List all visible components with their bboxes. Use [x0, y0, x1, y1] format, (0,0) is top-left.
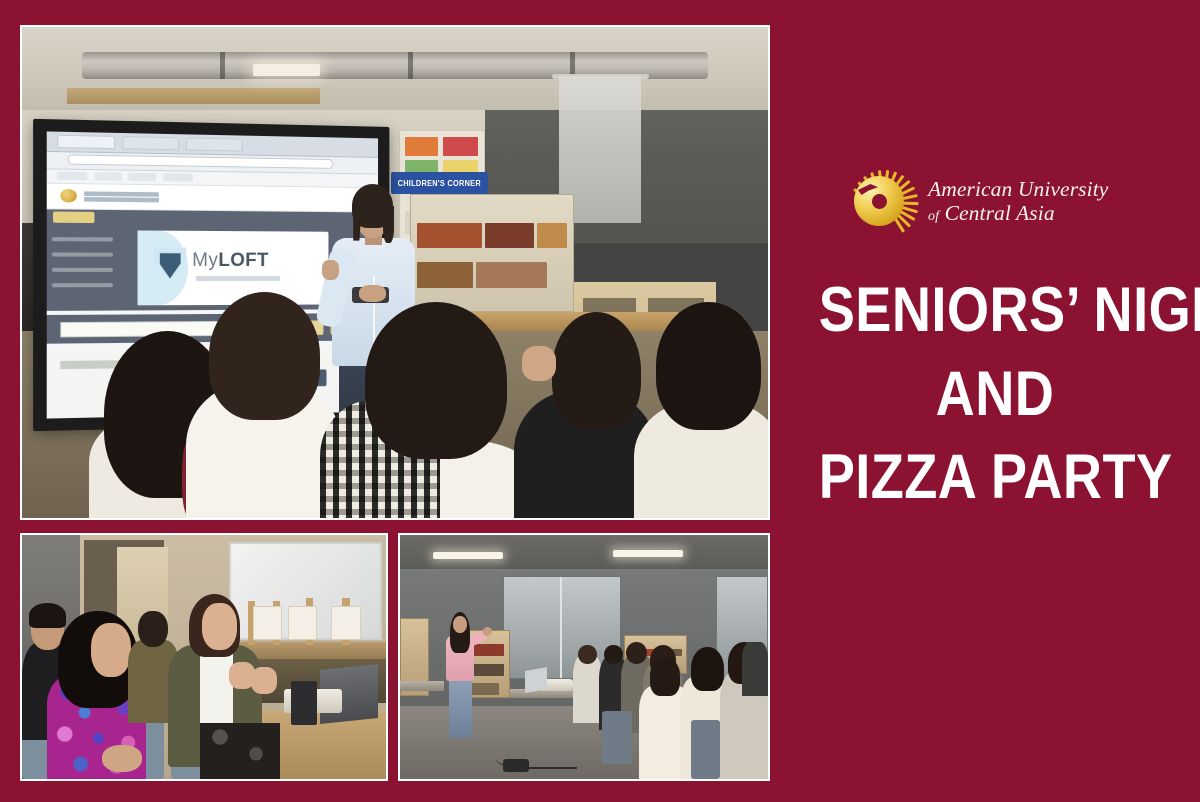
bl-speaker-face — [202, 603, 237, 649]
bl-art-card-3 — [331, 606, 360, 640]
presenter-left-hand — [322, 260, 339, 280]
br-audience-head-5 — [650, 657, 679, 696]
headline-line-2: AND — [819, 364, 1172, 426]
audience-head-4 — [552, 312, 642, 430]
bl-speaker — [291, 681, 316, 725]
bl-art-card-1 — [253, 606, 282, 640]
br-table-left — [400, 681, 444, 691]
bottom-left-scene — [22, 535, 386, 779]
bottom-right-scene — [400, 535, 768, 779]
br-presenter-face — [453, 616, 466, 633]
ceiling-light — [253, 64, 320, 76]
br-audience-head-3 — [626, 642, 646, 664]
audience-head-3 — [365, 302, 507, 459]
bl-speaker-skirt — [200, 723, 280, 779]
page-sidebar — [46, 225, 122, 311]
headline-line-3: PIZZA PARTY — [819, 447, 1172, 509]
auca-logo-line2-prefix: of — [928, 209, 939, 224]
br-audience-head-1 — [578, 645, 596, 665]
bl-person-floral-face — [91, 623, 131, 677]
br-chair-backs-2 — [691, 720, 720, 779]
auca-logo-wordmark: American University of Central Asia — [928, 177, 1108, 225]
branding-panel: American University of Central Asia SENI… — [790, 0, 1200, 802]
bl-person-bg-head — [138, 611, 167, 648]
photo-collage: CHILDREN'S CORNER — [20, 25, 770, 781]
br-presenter-jeans — [449, 677, 473, 738]
auca-eagle-sun-logo-icon — [852, 170, 914, 232]
br-audience-8 — [742, 642, 768, 696]
audience-head-5 — [656, 302, 760, 430]
br-ceiling-light-1 — [433, 552, 503, 559]
childrens-corner-sign: CHILDREN'S CORNER — [391, 172, 488, 195]
myloft-tagline — [196, 275, 280, 280]
br-audience-head-6 — [691, 647, 724, 691]
auca-logo-line1: American University — [928, 177, 1108, 201]
event-headline: SENIORS’ NIGHT AND PIZZA PARTY — [790, 280, 1200, 509]
auca-logo: American University of Central Asia — [852, 170, 1108, 232]
childrens-corner-label: CHILDREN'S CORNER — [398, 179, 481, 188]
auca-logo-line2: of Central Asia — [928, 201, 1108, 225]
br-audience-1 — [573, 655, 602, 723]
photo-bottom-left — [20, 533, 388, 781]
auca-logo-line2-main: Central Asia — [945, 201, 1055, 225]
myloft-wordmark: MyLOFT — [192, 250, 269, 272]
ceiling-beam — [67, 88, 321, 104]
br-audience-head-2 — [604, 645, 622, 665]
myloft-card: MyLOFT — [138, 230, 328, 305]
poster-canvas: CHILDREN'S CORNER — [0, 0, 1200, 802]
bl-person-floral-hands — [102, 745, 142, 772]
audience-hand-4 — [522, 346, 556, 380]
photo-bottom-right — [398, 533, 770, 781]
page-auca-logo-icon — [60, 189, 77, 203]
bl-speaker-hand-right — [251, 667, 276, 694]
bl-art-card-2 — [288, 606, 317, 640]
bookcase — [410, 194, 574, 312]
logo-eagle-eye — [872, 194, 887, 209]
br-cable-connector — [503, 759, 529, 771]
bl-speaker-blouse — [200, 650, 233, 723]
audience-head-2 — [209, 292, 321, 420]
page-header — [46, 183, 377, 212]
br-laptop — [525, 667, 547, 693]
headline-line-1: SENIORS’ NIGHT — [819, 280, 1172, 342]
br-ceiling-light-2 — [613, 550, 683, 557]
bl-person-man-hair — [29, 603, 65, 627]
photo-main: CHILDREN'S CORNER — [20, 25, 770, 520]
page-logo-wordmark — [84, 191, 159, 202]
br-chair-backs — [602, 711, 631, 765]
presenter-right-hand — [359, 285, 386, 303]
main-photo-scene: CHILDREN'S CORNER — [22, 27, 768, 518]
